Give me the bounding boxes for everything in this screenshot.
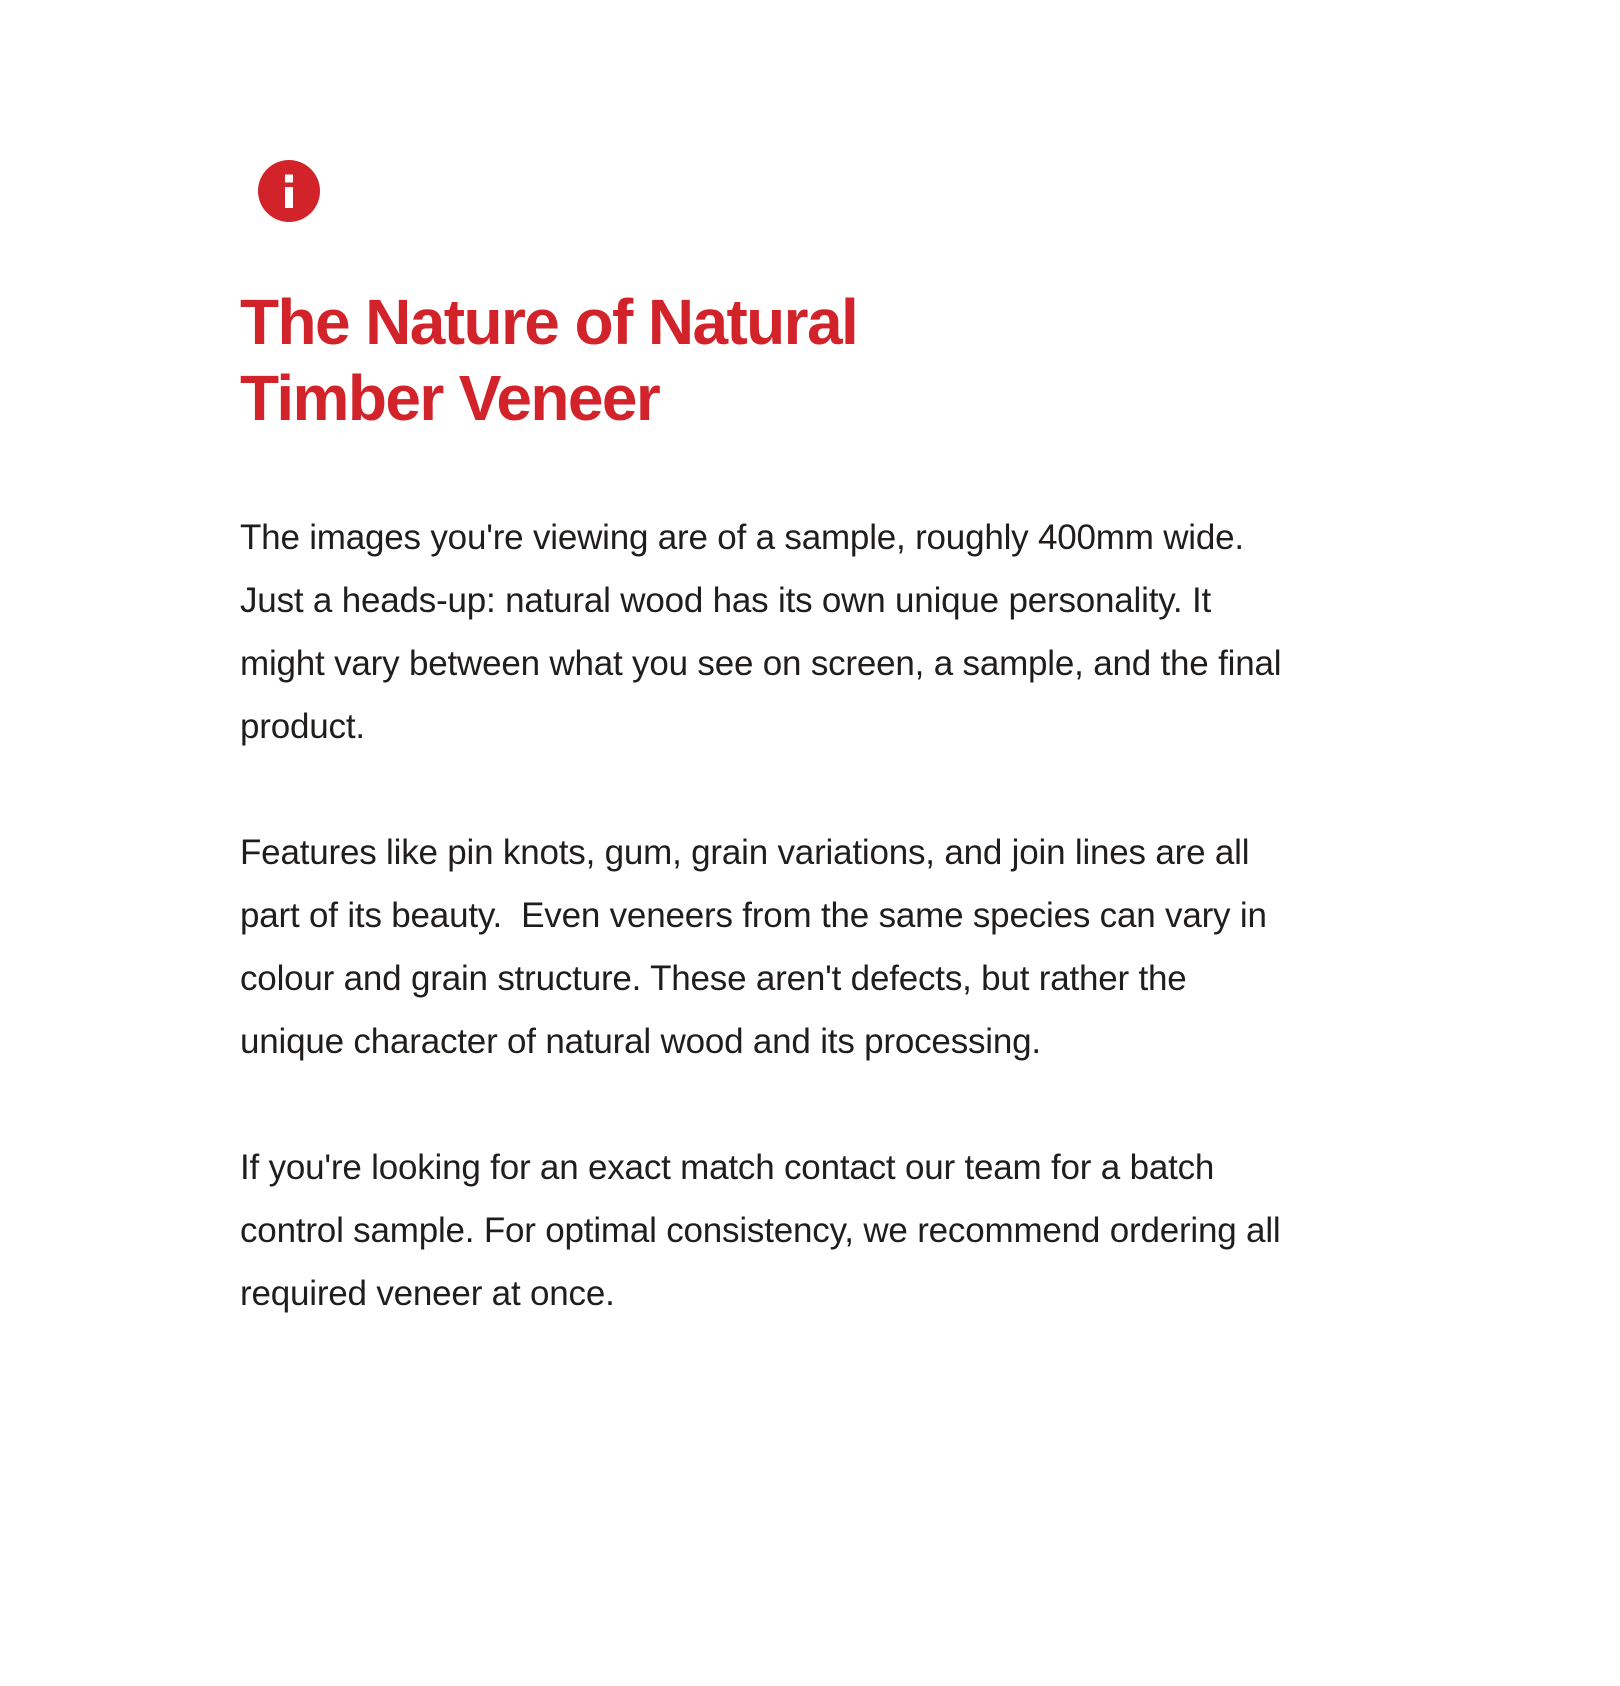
info-panel: The Nature of Natural Timber Veneer The … xyxy=(0,0,1620,1686)
page-title-line-1: The Nature of Natural xyxy=(240,284,1000,360)
content-column: The Nature of Natural Timber Veneer The … xyxy=(240,160,1300,1325)
body-copy: The images you're viewing are of a sampl… xyxy=(240,506,1300,1325)
info-i-glyph xyxy=(258,160,320,222)
page-title: The Nature of Natural Timber Veneer xyxy=(240,284,1000,436)
page-title-line-2: Timber Veneer xyxy=(240,360,1000,436)
info-icon xyxy=(258,160,320,222)
body-paragraph-3: If you're looking for an exact match con… xyxy=(240,1136,1295,1325)
body-paragraph-1: The images you're viewing are of a sampl… xyxy=(240,506,1295,758)
body-paragraph-2: Features like pin knots, gum, grain vari… xyxy=(240,821,1295,1073)
